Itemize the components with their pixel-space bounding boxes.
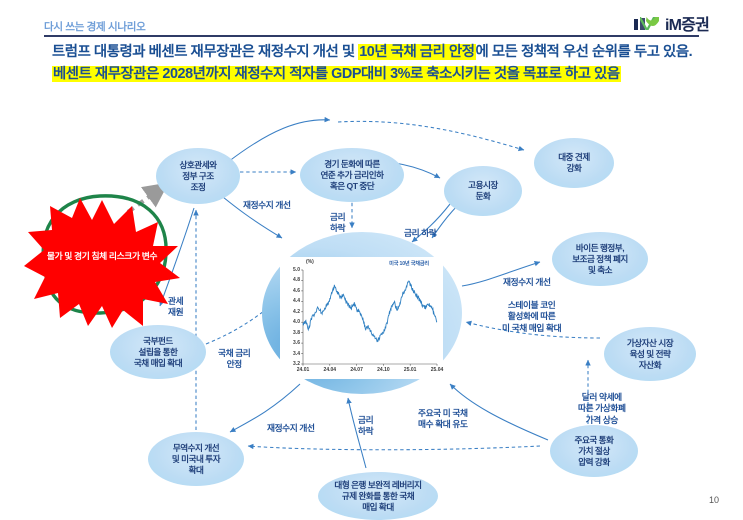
edge-label-weak-dollar-crypto: 달러 약세에 따른 가상화폐 가격 상승 xyxy=(578,392,626,426)
node-label: 국부펀드설립을 통한국채 매입 확대 xyxy=(134,336,182,369)
node-biden-subsidy-repeal[interactable]: 바이든 행정부,보조금 정책 폐지및 축소 xyxy=(552,232,648,286)
headline-segment-0: 트럼프 대통령과 베센트 재무장관은 재정수지 개선 및 xyxy=(52,44,358,60)
headline-segment-3: 베센트 재무장관은 2028년까지 재정수지 적자를 GDP대비 3%로 축소시… xyxy=(52,66,621,82)
logo-wordmark: iM증권 xyxy=(665,18,709,34)
edge-label-stablecoin-buy: 스테이블 코인 활성화에 따른 미 국채 매입 확대 xyxy=(502,300,561,334)
edge-label-fiscal-improve-3: 재정수지 개선 xyxy=(267,423,315,434)
node-sovereign-wealth-fund[interactable]: 국부펀드설립을 통한국채 매입 확대 xyxy=(110,325,206,379)
edge-label-foreign-ust-demand: 주요국 미 국채 매수 확대 유도 xyxy=(418,408,468,431)
node-label: 바이든 행정부,보조금 정책 폐지및 축소 xyxy=(572,243,628,276)
chart-plot xyxy=(280,257,443,379)
edge-label-rate-down-1: 금리 하락 xyxy=(330,212,345,235)
page-number: 10 xyxy=(709,495,719,505)
slide-headline: 트럼프 대통령과 베센트 재무장관은 재정수지 개선 및 10년 국채 금리 안… xyxy=(52,42,702,86)
im-securities-logo-mark xyxy=(633,14,661,37)
risk-callout-text: 물가 및 경기 침체 리스크가 변수 xyxy=(24,250,180,263)
node-label: 무역수지 개선및 미국내 투자확대 xyxy=(172,443,220,476)
headline-segment-1: 10년 국채 금리 안정 xyxy=(358,44,475,60)
node-label: 대중 견제강화 xyxy=(558,152,590,174)
node-fed-cut-or-qt-stop[interactable]: 경기 둔화에 따른연준 추가 금리인하혹은 QT 중단 xyxy=(300,148,404,202)
node-label: 상호관세와정부 구조조정 xyxy=(179,160,216,193)
header-kicker: 다시 쓰는 경제 시나리오 xyxy=(44,19,145,34)
node-labor-market-cooling[interactable]: 고용시장둔화 xyxy=(444,166,522,216)
node-china-containment[interactable]: 대중 견제강화 xyxy=(534,138,614,188)
header-divider xyxy=(44,35,699,37)
edge-label-rate-down-2: 금리 하락 xyxy=(404,228,436,239)
edge-label-tariff-revenue: 관세 재원 xyxy=(168,296,183,319)
slide-canvas: 다시 쓰는 경제 시나리오 iM증권 트럼프 대통령과 베센트 재무장관은 재정… xyxy=(0,0,743,519)
node-label: 주요국 통화가치 절상압력 강화 xyxy=(575,435,614,468)
headline-segment-2: 에 모든 정책적 우선 순위를 두고 있음. xyxy=(476,44,693,60)
edge-label-ust-rate-stable: 국채 금리 안정 xyxy=(218,348,250,371)
brand-logo: iM증권 xyxy=(633,14,709,37)
node-bank-slr-relief[interactable]: 대형 은행 보완적 레버리지규제 완화를 통한 국채매입 확대 xyxy=(318,472,438,520)
chart-series-line xyxy=(303,281,437,342)
node-crypto-strategic-asset[interactable]: 가상자산 시장육성 및 전략자산화 xyxy=(604,327,696,381)
node-label: 경기 둔화에 따른연준 추가 금리인하혹은 QT 중단 xyxy=(320,159,383,192)
starburst-shape xyxy=(24,198,180,328)
edge-label-fiscal-improve-2: 재정수지 개선 xyxy=(503,277,551,288)
node-label: 가상자산 시장육성 및 전략자산화 xyxy=(627,338,673,371)
node-label: 고용시장둔화 xyxy=(468,180,498,202)
risk-callout: 물가 및 경기 침체 리스크가 변수 xyxy=(24,198,180,328)
node-tariff-restructuring[interactable]: 상호관세와정부 구조조정 xyxy=(156,148,240,204)
us-10y-yield-chart: (%) 미국 10년 국채금리 3.23.43.63.84.04.24.44.6… xyxy=(280,257,443,379)
edge-label-fiscal-improve-1: 재정수지 개선 xyxy=(243,200,291,211)
node-fx-appreciation-pressure[interactable]: 주요국 통화가치 절상압력 강화 xyxy=(550,425,638,477)
edge-label-rate-down-3: 금리 하락 xyxy=(358,415,373,438)
node-label: 대형 은행 보완적 레버리지규제 완화를 통한 국채매입 확대 xyxy=(334,480,421,513)
node-trade-balance-invest[interactable]: 무역수지 개선및 미국내 투자확대 xyxy=(148,432,244,486)
